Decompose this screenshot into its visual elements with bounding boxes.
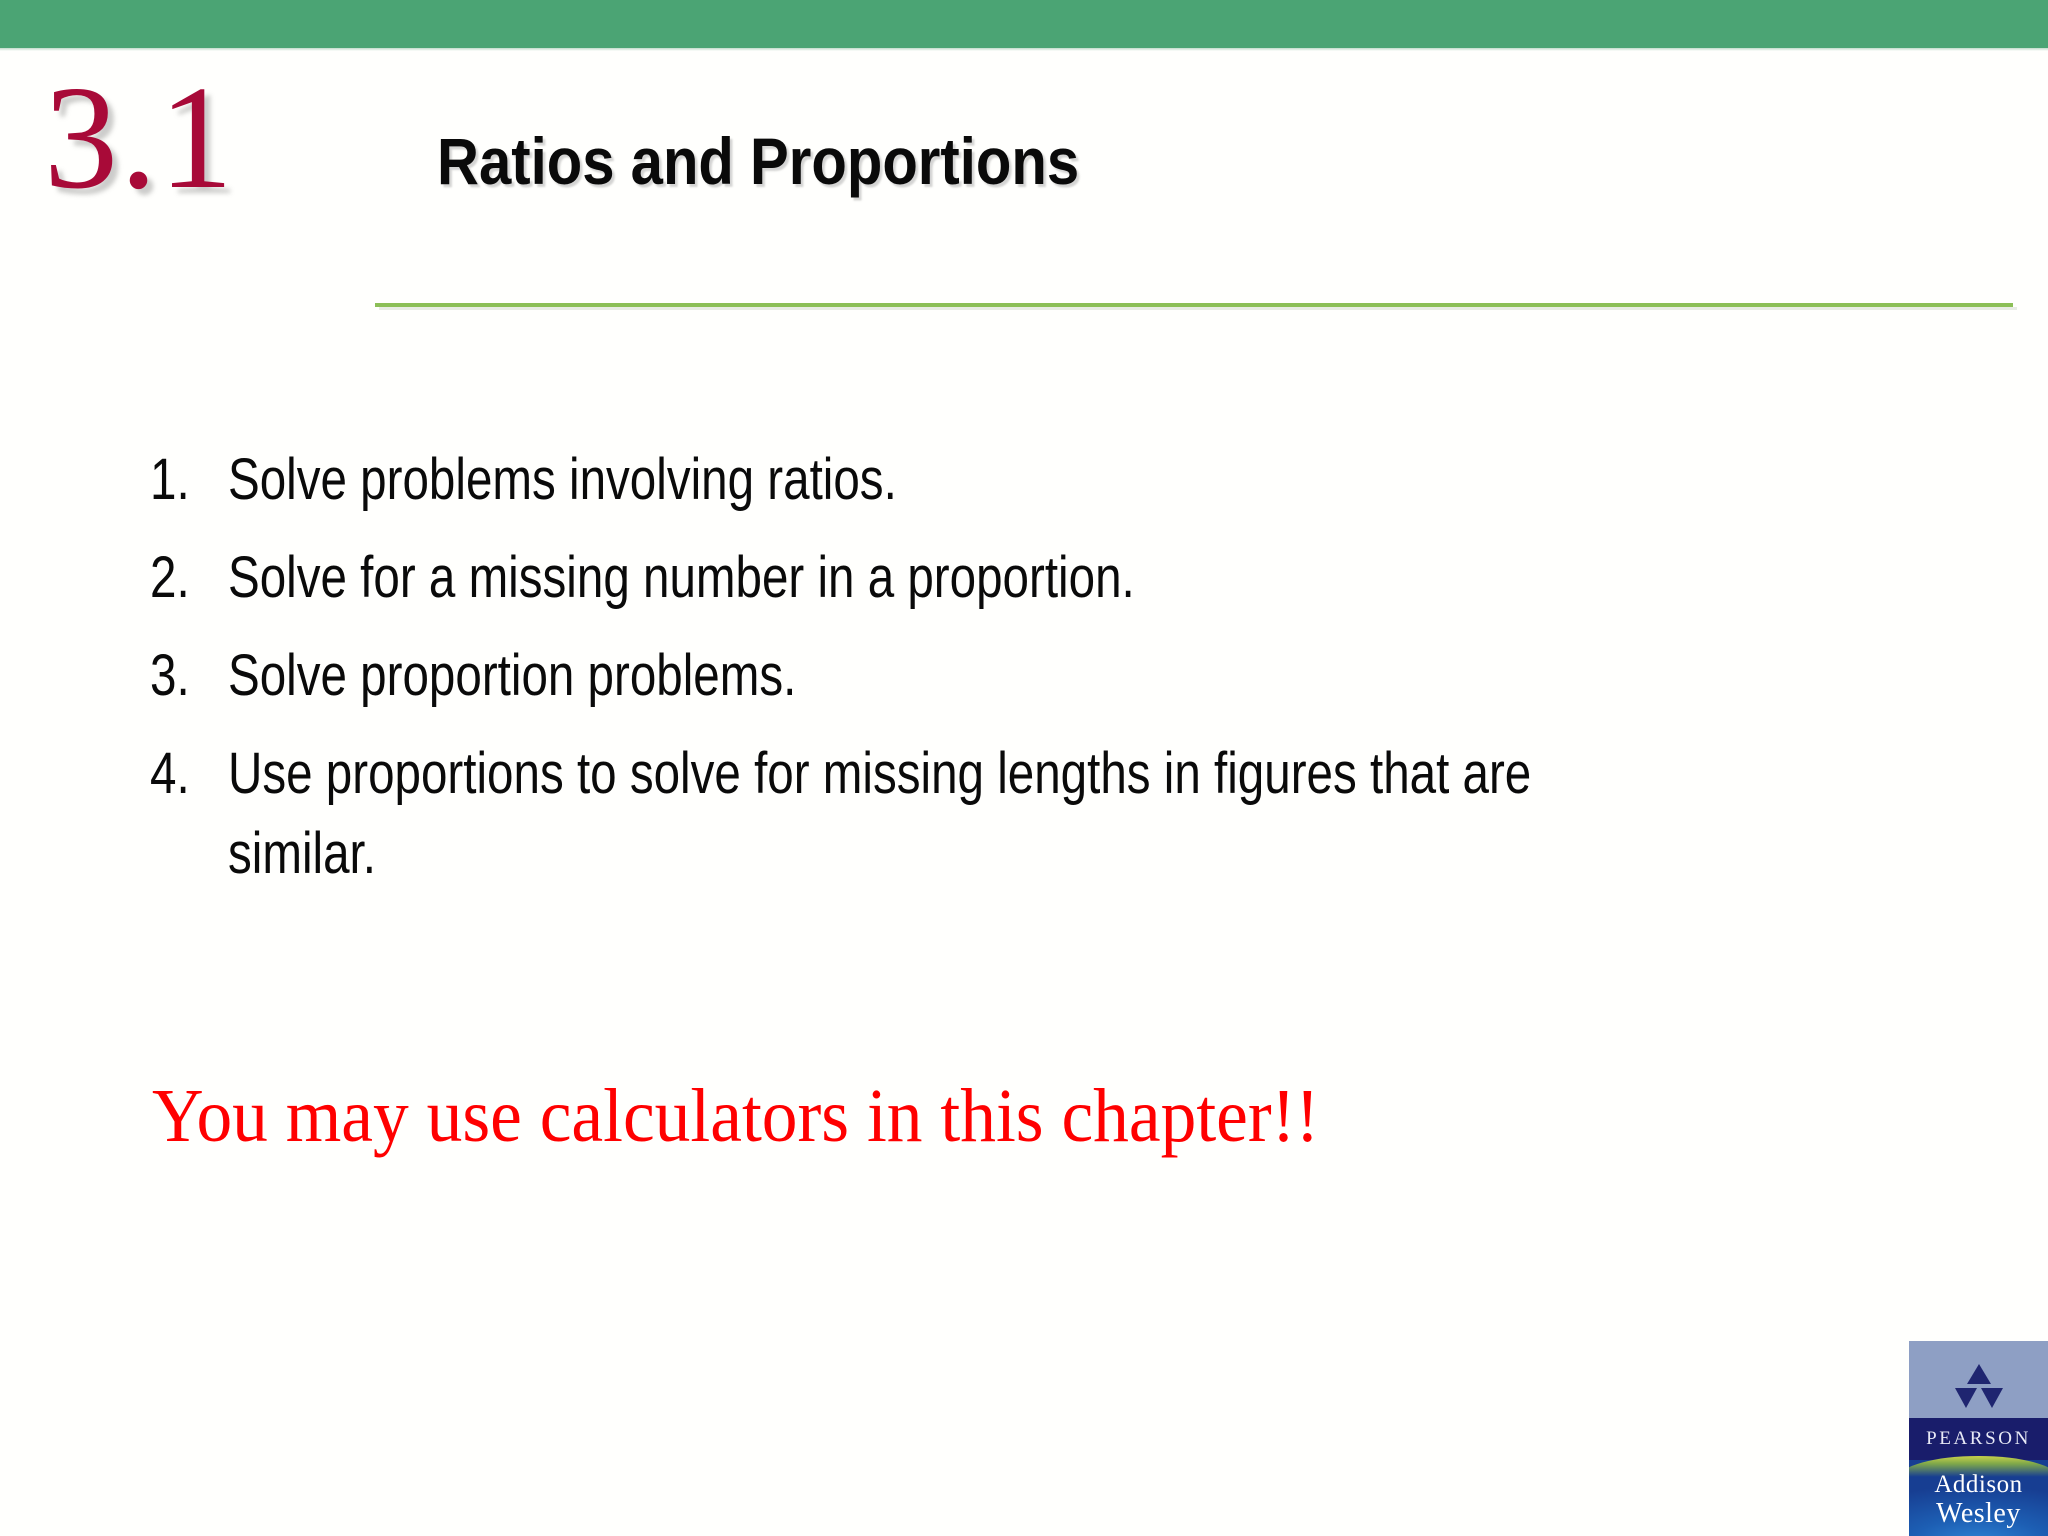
list-item: 1. Solve problems involving ratios. — [150, 440, 1910, 520]
list-item: 4. Use proportions to solve for missing … — [150, 734, 1910, 894]
title-divider-rule-shadow — [379, 307, 2017, 310]
presentation-slide: 3.1 Ratios and Proportions 1. Solve prob… — [0, 0, 2048, 1536]
pearson-triangle-icon — [1953, 1363, 2005, 1413]
top-green-band — [0, 0, 2048, 48]
logo-brand-band: PEARSON — [1909, 1418, 2048, 1460]
top-band-shadow — [0, 48, 2048, 51]
list-item-marker: 3. — [150, 636, 214, 716]
list-item-marker: 4. — [150, 734, 214, 814]
page-title: Ratios and Proportions — [437, 128, 1079, 194]
calculator-note: You may use calculators in this chapter!… — [152, 1075, 1319, 1159]
logo-brand-text: PEARSON — [1909, 1418, 2048, 1460]
section-number: 3.1 — [44, 64, 235, 212]
logo-imprint-line-2: Wesley — [1909, 1500, 2048, 1528]
objectives-list: 1. Solve problems involving ratios. 2. S… — [150, 440, 1910, 912]
list-item: 3. Solve proportion problems. — [150, 636, 1910, 716]
list-item: 2. Solve for a missing number in a propo… — [150, 538, 1910, 618]
list-item-marker: 1. — [150, 440, 214, 520]
logo-imprint-line-1: Addison — [1909, 1472, 2048, 1497]
list-item-marker: 2. — [150, 538, 214, 618]
list-item-text: Solve problems involving ratios. — [228, 440, 1607, 520]
list-item-text: Use proportions to solve for missing len… — [228, 734, 1607, 894]
list-item-text: Solve for a missing number in a proporti… — [228, 538, 1607, 618]
list-item-text: Solve proportion problems. — [228, 636, 1607, 716]
pearson-addison-wesley-logo: PEARSON Addison Wesley — [1909, 1341, 2048, 1536]
